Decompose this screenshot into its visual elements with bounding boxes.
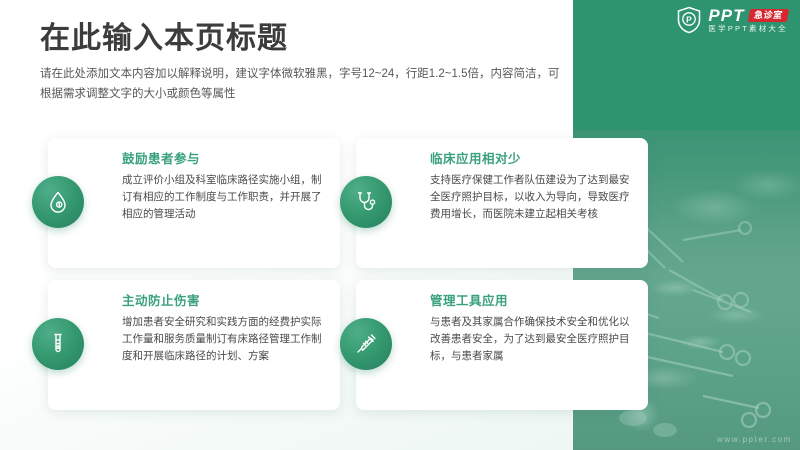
card-item[interactable]: 主动防止伤害 增加患者安全研究和实践方面的经费护实际工作量和服务质量制订有床路径… xyxy=(48,280,340,410)
card-title: 主动防止伤害 xyxy=(122,294,326,309)
test-tube-icon xyxy=(32,318,84,370)
stethoscope-icon xyxy=(340,176,392,228)
header: 在此输入本页标题 请在此处添加文本内容加以解释说明，建议字体微软雅黑，字号12~… xyxy=(40,22,560,104)
syringe-icon xyxy=(340,318,392,370)
card-title: 鼓励患者参与 xyxy=(122,152,326,167)
logo-text-block: PPT 急诊室 医学PPT素材大全 xyxy=(708,7,788,33)
card-title: 临床应用相对少 xyxy=(430,152,634,167)
brand-logo[interactable]: P PPT 急诊室 医学PPT素材大全 xyxy=(676,6,788,34)
slide: www.ppter.com P PPT 急诊室 医学PPT素材大全 在此输入本页… xyxy=(0,0,800,450)
logo-brand-text: PPT xyxy=(708,7,744,24)
card-title: 管理工具应用 xyxy=(430,294,634,309)
logo-primary-row: PPT 急诊室 xyxy=(708,7,788,24)
card-item[interactable]: 临床应用相对少 支持医疗保健工作者队伍建设为了达到最安全医疗照护目标，以收入为导… xyxy=(356,138,648,268)
card-body: 与患者及其家属合作确保技术安全和优化以改善患者安全，为了达到最安全医疗照护目标，… xyxy=(430,314,634,364)
svg-text:P: P xyxy=(687,15,693,25)
card-body: 支持医疗保健工作者队伍建设为了达到最安全医疗照护目标，以收入为导向，导致医疗费用… xyxy=(430,172,634,222)
logo-badge: 急诊室 xyxy=(748,9,789,22)
shield-icon: P xyxy=(676,6,702,34)
page-subtitle: 请在此处添加文本内容加以解释说明，建议字体微软雅黑，字号12~24，行距1.2~… xyxy=(40,64,560,104)
blood-drop-icon xyxy=(32,176,84,228)
card-item[interactable]: 鼓励患者参与 成立评价小组及科室临床路径实施小组，制订有相应的工作制度与工作职责… xyxy=(48,138,340,268)
card-body: 成立评价小组及科室临床路径实施小组，制订有相应的工作制度与工作职责，并开展了相应… xyxy=(122,172,326,222)
page-title: 在此输入本页标题 xyxy=(40,22,560,55)
card-item[interactable]: 管理工具应用 与患者及其家属合作确保技术安全和优化以改善患者安全，为了达到最安全… xyxy=(356,280,648,410)
watermark: www.ppter.com xyxy=(717,435,792,444)
card-grid: 鼓励患者参与 成立评价小组及科室临床路径实施小组，制订有相应的工作制度与工作职责… xyxy=(48,138,648,410)
card-body: 增加患者安全研究和实践方面的经费护实际工作量和服务质量制订有床路径管理工作制度和… xyxy=(122,314,326,364)
logo-tagline: 医学PPT素材大全 xyxy=(708,25,788,33)
